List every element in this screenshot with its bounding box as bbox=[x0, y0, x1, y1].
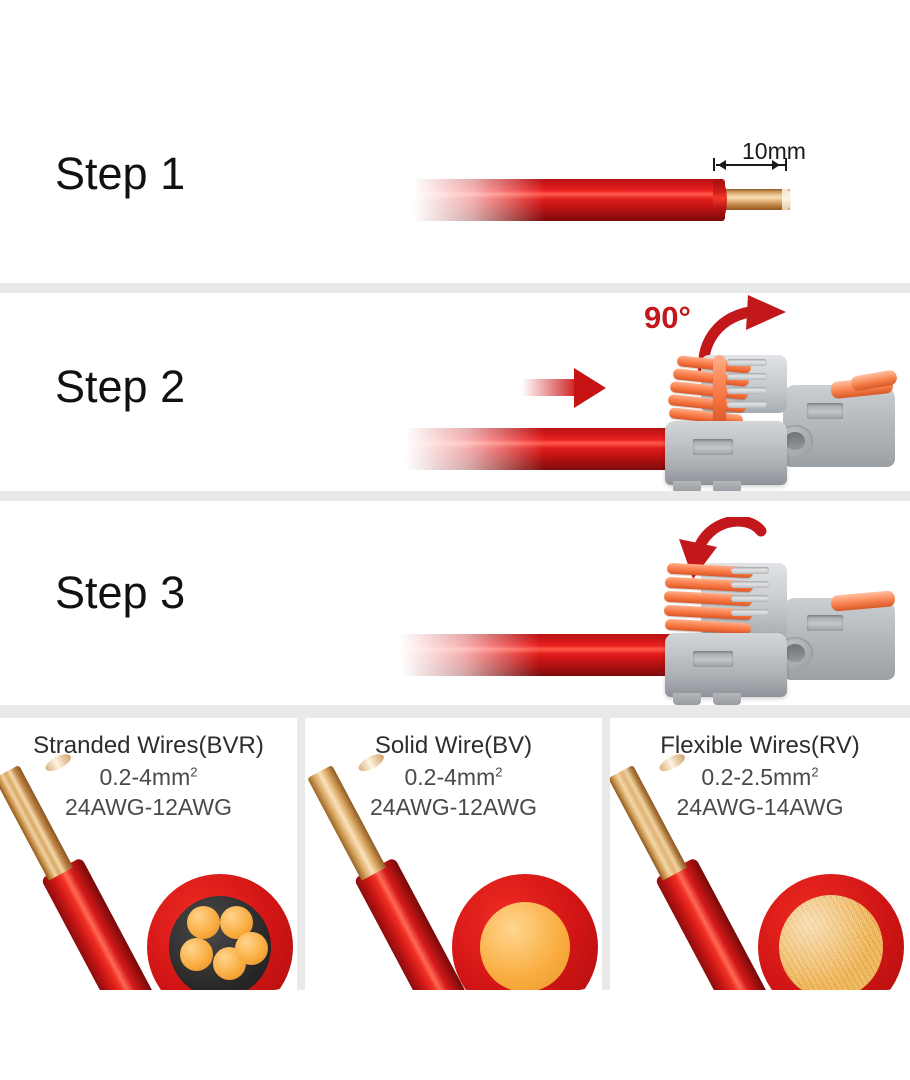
stranded-wire-photo bbox=[18, 822, 168, 990]
panel-divider-3 bbox=[0, 705, 910, 718]
card-area: 0.2-2.5mm2 bbox=[610, 764, 910, 791]
lever-connector-open-icon bbox=[655, 333, 910, 491]
step-3-panel: Step 3 bbox=[0, 501, 910, 705]
step-1-panel: Step 1 10mm bbox=[0, 84, 910, 283]
panel-divider-2 bbox=[0, 491, 910, 501]
straight-right-arrow-icon bbox=[522, 368, 614, 408]
wire-connector-instruction-page: Step 1 10mm Step 2 bbox=[0, 0, 910, 1080]
card-title: Solid Wire(BV) bbox=[305, 732, 602, 760]
step-2-label: Step 2 bbox=[55, 361, 185, 413]
panel-divider-1 bbox=[0, 283, 910, 293]
wire-type-card-solid[interactable]: Solid Wire(BV) 0.2-4mm2 24AWG-12AWG bbox=[305, 718, 602, 990]
step-1-label: Step 1 bbox=[55, 148, 185, 200]
stranded-cross-section-icon bbox=[147, 874, 293, 990]
wire-type-card-row: Stranded Wires(BVR) 0.2-4mm2 24AWG-12AWG… bbox=[0, 718, 910, 990]
card-area: 0.2-4mm2 bbox=[305, 764, 602, 791]
wire-type-card-stranded[interactable]: Stranded Wires(BVR) 0.2-4mm2 24AWG-12AWG bbox=[0, 718, 297, 990]
rotation-angle-label: 90° bbox=[644, 300, 691, 336]
lever-connector-closed-icon bbox=[655, 543, 910, 703]
wire-type-card-flexible[interactable]: Flexible Wires(RV) 0.2-2.5mm2 24AWG-14AW… bbox=[610, 718, 910, 990]
card-title: Stranded Wires(BVR) bbox=[0, 732, 297, 760]
step-2-panel: Step 2 90° bbox=[0, 293, 910, 491]
step-3-label: Step 3 bbox=[55, 567, 185, 619]
card-title: Flexible Wires(RV) bbox=[610, 732, 910, 760]
